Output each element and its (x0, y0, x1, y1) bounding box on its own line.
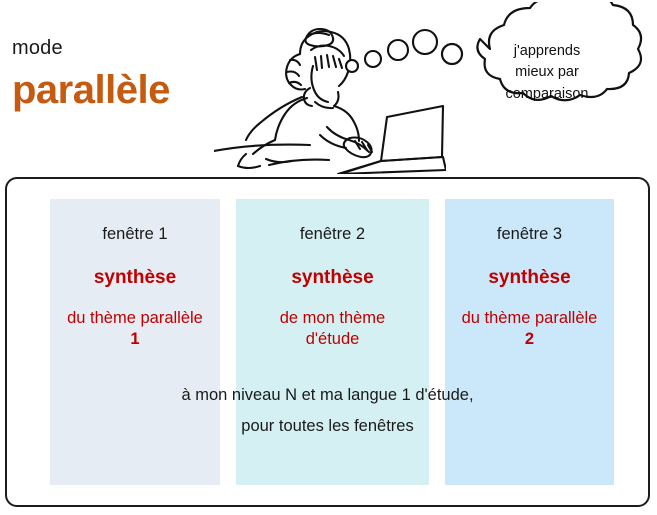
description-text-1: du thème parallèle (67, 309, 203, 327)
mode-label: mode (12, 38, 63, 58)
thought-dots-icon (340, 22, 460, 77)
mode-title: parallèle (12, 70, 170, 110)
theme-number-3: 2 (445, 329, 614, 350)
panel-footer: à mon niveau N et ma langue 1 d'étude, p… (7, 380, 648, 443)
window-columns: fenêtre 1 synthèse du thème parallèle 1 … (7, 179, 648, 505)
synthesis-description-2: de mon thème d'étude (236, 308, 429, 350)
window-label-1: fenêtre 1 (50, 226, 220, 243)
theme-number-1: 1 (50, 329, 220, 350)
window-label-2: fenêtre 2 (236, 226, 429, 243)
synthesis-description-1: du thème parallèle 1 (50, 308, 220, 350)
footer-line-1: à mon niveau N et ma langue 1 d'étude, (7, 380, 648, 411)
windows-panel: fenêtre 1 synthèse du thème parallèle 1 … (5, 177, 650, 507)
theme-number-2: d'étude (236, 329, 429, 350)
header-zone: mode parallèle (0, 0, 657, 176)
description-text-3: du thème parallèle (462, 309, 598, 327)
description-text-2: de mon thème (280, 309, 385, 327)
footer-line-2: pour toutes les fenêtres (7, 411, 648, 442)
synthesis-description-3: du thème parallèle 2 (445, 308, 614, 350)
window-label-3: fenêtre 3 (445, 226, 614, 243)
synthesis-label-1: synthèse (50, 268, 220, 287)
diagram-canvas: mode parallèle (0, 0, 657, 515)
synthesis-label-3: synthèse (445, 268, 614, 287)
synthesis-label-2: synthèse (236, 268, 429, 287)
thought-bubble: j'apprends mieux par comparaison (438, 2, 656, 138)
